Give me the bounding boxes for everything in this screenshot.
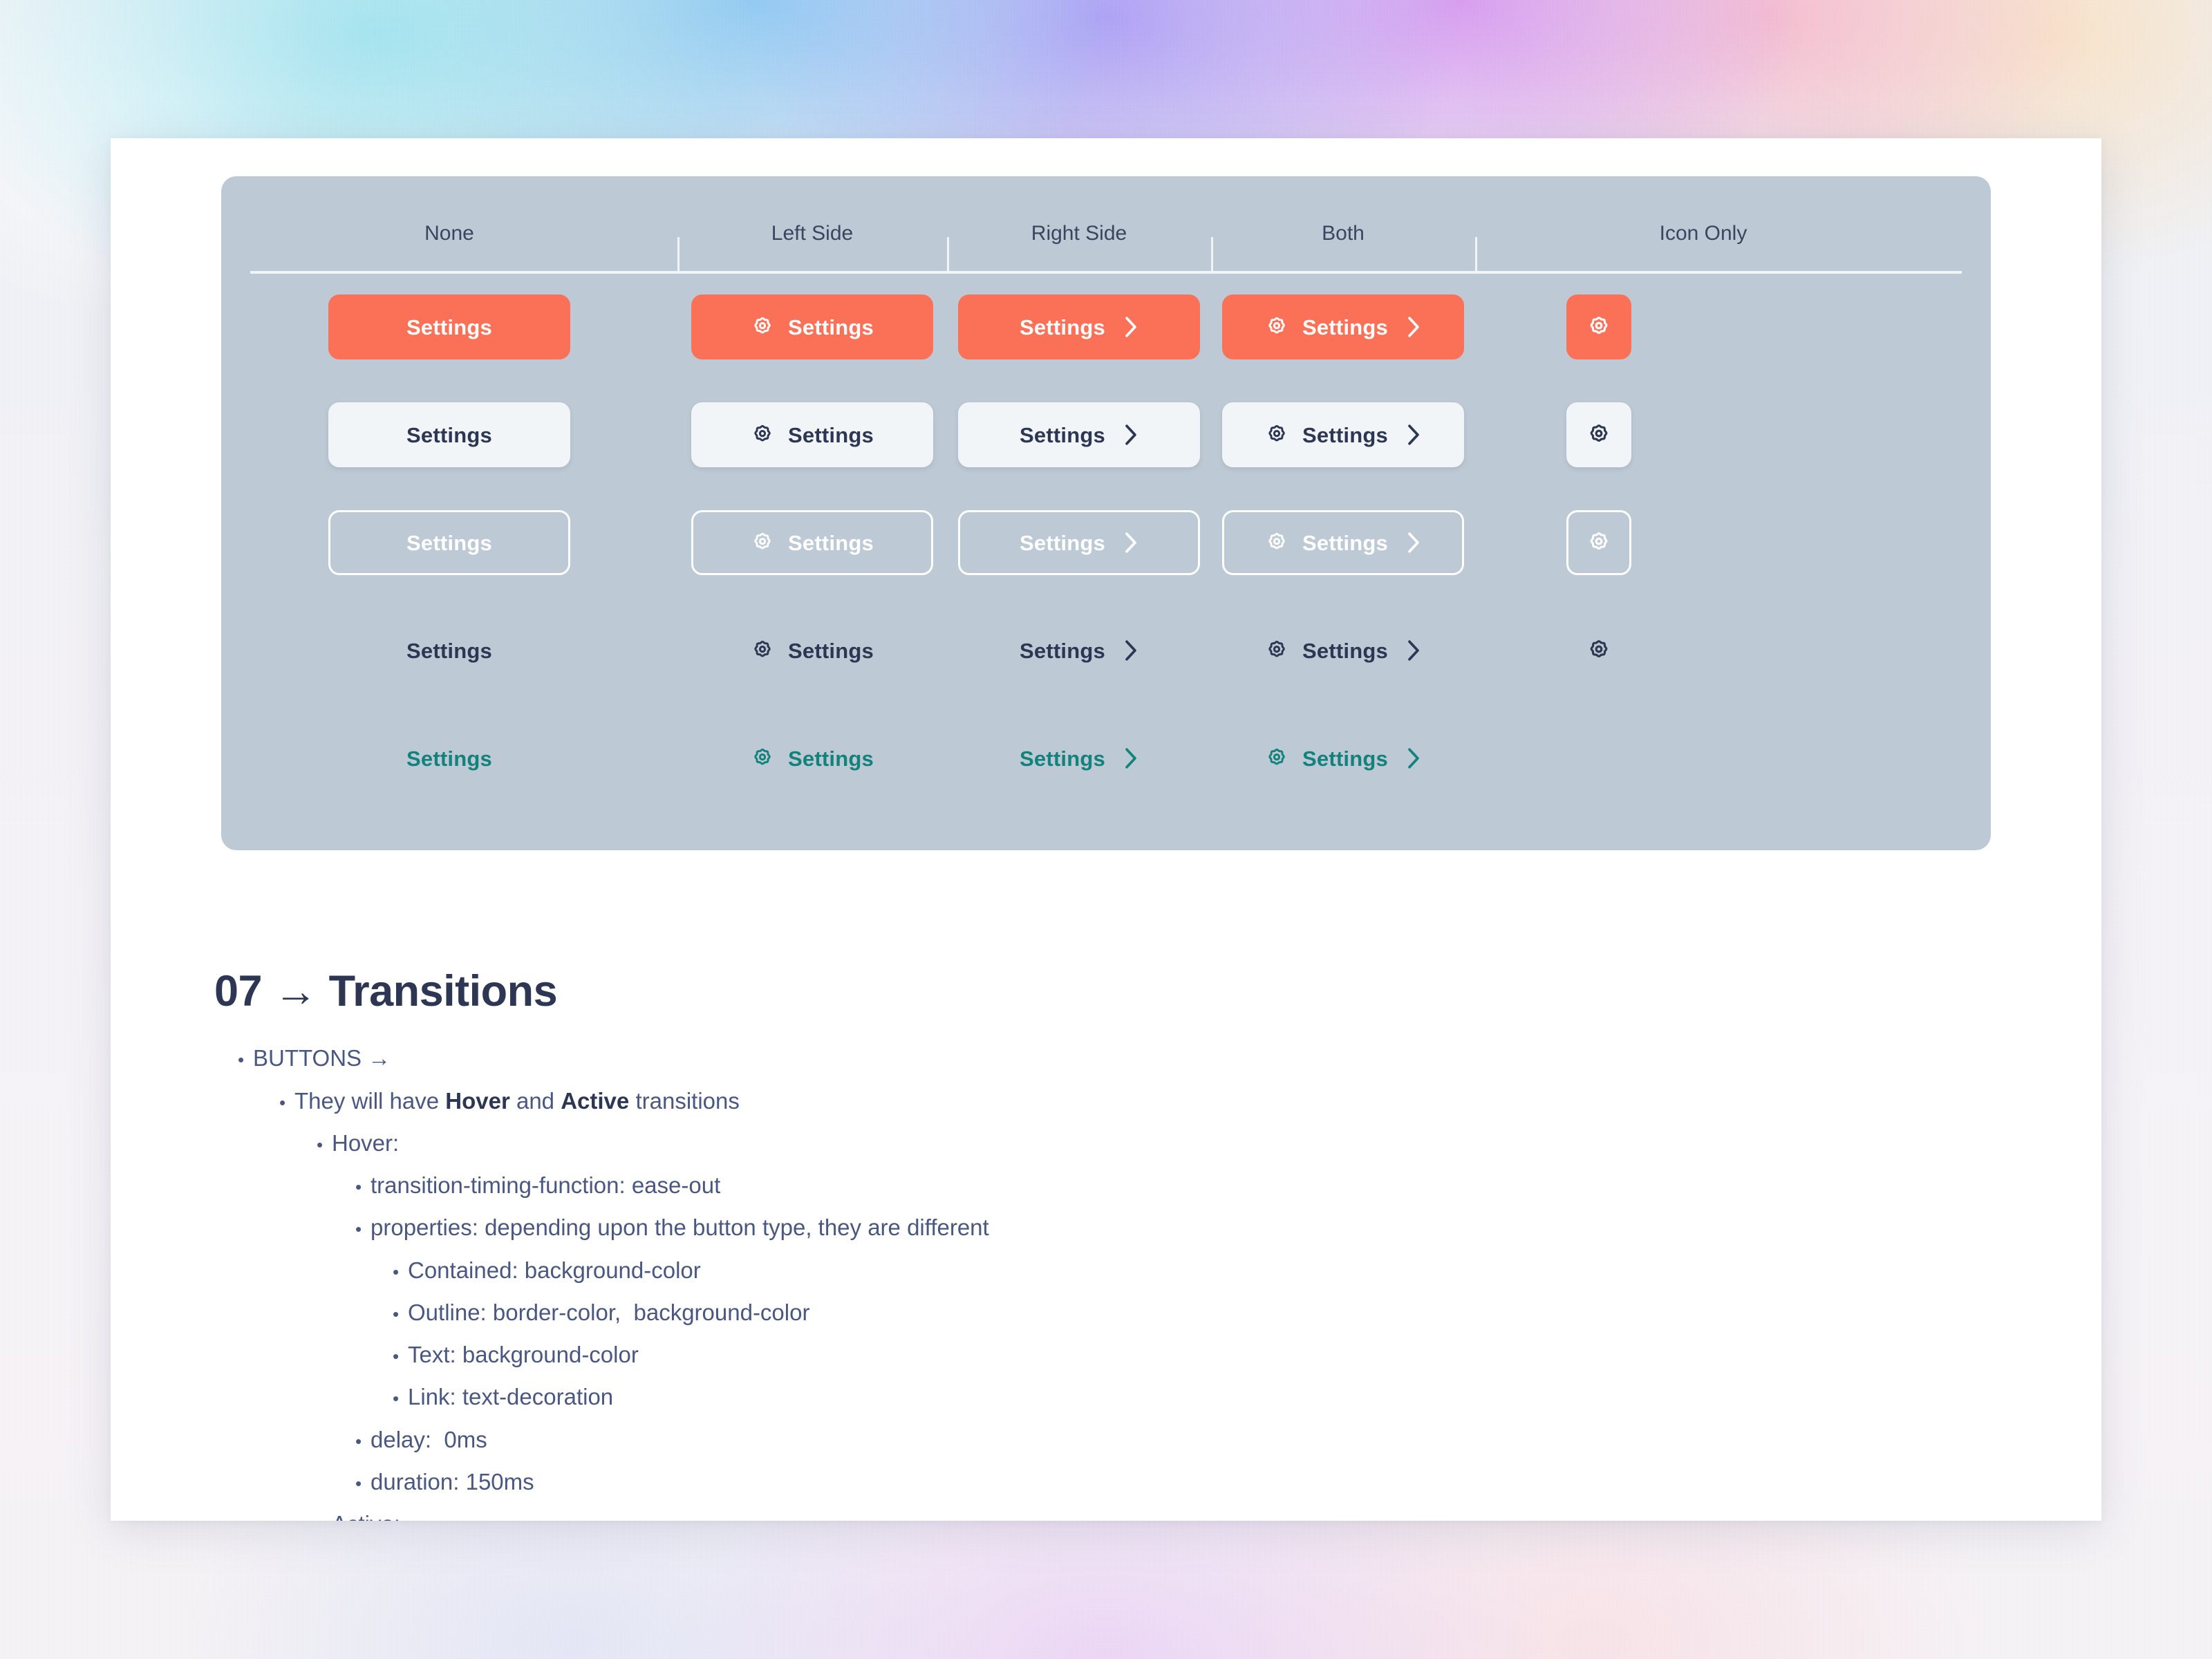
gear-icon	[751, 315, 774, 339]
button-label: Settings	[788, 532, 874, 554]
column-header-icon-only: Icon Only	[1475, 223, 1931, 273]
button-link-left[interactable]: Settings	[691, 726, 933, 791]
column-header-none: None	[221, 223, 677, 273]
column-header-left-side: Left Side	[677, 223, 947, 273]
chevron-right-icon	[1123, 747, 1138, 770]
column-divider	[1475, 237, 1477, 273]
grid-cell-text-both: Settings	[1211, 618, 1475, 683]
button-label: Settings	[1302, 640, 1388, 662]
bullet-dot-icon: •	[355, 1178, 371, 1196]
grid-cell-outline-left: Settings	[677, 510, 947, 575]
bullet-item: •duration: 150ms	[355, 1468, 2046, 1496]
column-header-label: None	[424, 222, 474, 245]
gear-icon	[1265, 531, 1288, 554]
button-text-none[interactable]: Settings	[328, 618, 570, 683]
gear-icon	[1265, 315, 1288, 339]
bullet-text: Outline: border-color, background-color	[408, 1299, 2046, 1327]
grid-cell-outline-icononly	[1475, 510, 1931, 575]
grid-cell-link-none: Settings	[221, 726, 677, 791]
button-label: Settings	[788, 640, 874, 662]
button-outline-right[interactable]: Settings	[958, 510, 1200, 575]
grid-cell-outline-none: Settings	[221, 510, 677, 575]
bullet-text: Link: text-decoration	[408, 1383, 2046, 1411]
button-contained-none[interactable]: Settings	[328, 294, 570, 359]
button-grid: Settings SettingsSettings Settings Setti…	[221, 273, 1991, 812]
bullet-dot-icon: •	[355, 1474, 371, 1492]
button-white-both[interactable]: Settings	[1222, 402, 1464, 467]
button-label: Settings	[1020, 532, 1105, 554]
button-white-right[interactable]: Settings	[958, 402, 1200, 467]
button-row-text: Settings SettingsSettings Settings	[221, 597, 1991, 704]
button-label: Settings	[1020, 424, 1105, 446]
column-divider	[947, 237, 949, 273]
gear-icon	[751, 639, 774, 662]
button-link-both[interactable]: Settings	[1222, 726, 1464, 791]
bullet-text: delay: 0ms	[371, 1426, 2046, 1454]
grid-cell-white-left: Settings	[677, 402, 947, 467]
chevron-right-icon	[1123, 315, 1138, 339]
gear-icon	[1586, 530, 1611, 555]
button-contained-icononly[interactable]	[1566, 294, 1631, 359]
grid-cell-contained-right: Settings	[947, 294, 1211, 359]
grid-cell-link-left: Settings	[677, 726, 947, 791]
bullet-dot-icon: •	[393, 1347, 408, 1365]
bullet-item: •properties: depending upon the button t…	[355, 1214, 2046, 1241]
bullet-dot-icon: •	[393, 1305, 408, 1323]
grid-cell-outline-right: Settings	[947, 510, 1211, 575]
button-label: Settings	[406, 317, 492, 338]
button-label: Settings	[788, 748, 874, 769]
bullet-text: duration: 150ms	[371, 1468, 2046, 1496]
gear-icon	[1265, 747, 1288, 770]
column-header-label: Left Side	[771, 222, 853, 245]
column-header-label: Right Side	[1031, 222, 1127, 245]
grid-cell-white-both: Settings	[1211, 402, 1475, 467]
specimen-column-headers: None Left Side Right Side Both Icon Only	[221, 176, 1991, 273]
chevron-right-icon	[1406, 531, 1421, 554]
bullet-dot-icon: •	[355, 1220, 371, 1238]
grid-cell-text-left: Settings	[677, 618, 947, 683]
chevron-right-icon	[1406, 747, 1421, 770]
bullet-text: Hover:	[332, 1130, 2046, 1157]
grid-cell-link-right: Settings	[947, 726, 1211, 791]
chevron-right-icon	[1406, 639, 1421, 662]
grid-cell-white-none: Settings	[221, 402, 677, 467]
button-label: Settings	[788, 424, 874, 446]
button-contained-both[interactable]: Settings	[1222, 294, 1464, 359]
button-white-icononly[interactable]	[1566, 402, 1631, 467]
bullet-item: •BUTTONS →	[238, 1044, 2046, 1072]
button-white-left[interactable]: Settings	[691, 402, 933, 467]
grid-cell-text-icononly	[1475, 618, 1931, 683]
grid-cell-outline-both: Settings	[1211, 510, 1475, 575]
button-label: Settings	[788, 317, 874, 338]
button-contained-right[interactable]: Settings	[958, 294, 1200, 359]
page-title: 07 → Transitions	[214, 968, 2046, 1015]
gear-icon	[1265, 423, 1288, 447]
button-row-white: Settings SettingsSettings Settings	[221, 381, 1991, 489]
button-label: Settings	[406, 532, 492, 554]
column-header-both: Both	[1211, 223, 1475, 273]
button-row-link: Settings SettingsSettings Settings	[221, 704, 1991, 812]
button-outline-left[interactable]: Settings	[691, 510, 933, 575]
button-label: Settings	[406, 640, 492, 662]
button-label: Settings	[1020, 748, 1105, 769]
bullet-dot-icon: •	[355, 1432, 371, 1450]
bullet-list: •BUTTONS →•They will have Hover and Acti…	[214, 1044, 2046, 1521]
grid-cell-contained-icononly	[1475, 294, 1931, 359]
bullet-dot-icon: •	[317, 1136, 332, 1154]
gear-icon	[1586, 422, 1611, 447]
button-link-right[interactable]: Settings	[958, 726, 1200, 791]
button-text-both[interactable]: Settings	[1222, 618, 1464, 683]
column-header-right-side: Right Side	[947, 223, 1211, 273]
button-label: Settings	[406, 748, 492, 769]
bullet-text: They will have Hover and Active transiti…	[294, 1087, 2046, 1115]
gear-icon	[751, 531, 774, 554]
bullet-text: properties: depending upon the button ty…	[371, 1214, 2046, 1241]
grid-cell-text-right: Settings	[947, 618, 1211, 683]
button-label: Settings	[1020, 640, 1105, 662]
gear-icon	[1265, 639, 1288, 662]
grid-cell-contained-left: Settings	[677, 294, 947, 359]
button-label: Settings	[406, 424, 492, 446]
button-outline-both[interactable]: Settings	[1222, 510, 1464, 575]
button-outline-icononly[interactable]	[1566, 510, 1631, 575]
button-label: Settings	[1302, 317, 1388, 338]
gear-icon	[751, 747, 774, 770]
bullet-item: •Active:	[317, 1510, 2046, 1521]
prose-section: 07 → Transitions •BUTTONS →•They will ha…	[214, 968, 2046, 1521]
grid-cell-text-none: Settings	[221, 618, 677, 683]
grid-cell-link-both: Settings	[1211, 726, 1475, 791]
column-header-label: Both	[1322, 222, 1365, 245]
bullet-text: Contained: background-color	[408, 1257, 2046, 1284]
grid-cell-contained-none: Settings	[221, 294, 677, 359]
chevron-right-icon	[1406, 423, 1421, 447]
bullet-item: •transition-timing-function: ease-out	[355, 1172, 2046, 1199]
grid-cell-white-right: Settings	[947, 402, 1211, 467]
button-specimen-panel: None Left Side Right Side Both Icon Only…	[221, 176, 1991, 850]
chevron-right-icon	[1123, 531, 1138, 554]
bullet-text: BUTTONS →	[253, 1044, 2046, 1072]
chevron-right-icon	[1123, 639, 1138, 662]
button-label: Settings	[1020, 317, 1105, 338]
bullet-text: Active:	[332, 1510, 2046, 1521]
bullet-dot-icon: •	[238, 1051, 253, 1069]
bullet-item: •Text: background-color	[393, 1341, 2046, 1369]
button-contained-left[interactable]: Settings	[691, 294, 933, 359]
column-divider	[677, 237, 679, 273]
column-header-label: Icon Only	[1660, 222, 1747, 245]
chevron-right-icon	[1406, 315, 1421, 339]
bullet-item: •Contained: background-color	[393, 1257, 2046, 1284]
bullet-item: •delay: 0ms	[355, 1426, 2046, 1454]
bullet-item: •Outline: border-color, background-color	[393, 1299, 2046, 1327]
gear-icon	[1586, 315, 1611, 339]
button-label: Settings	[1302, 424, 1388, 446]
gear-icon	[1586, 638, 1611, 663]
button-label: Settings	[1302, 748, 1388, 769]
gear-icon	[751, 423, 774, 447]
button-label: Settings	[1302, 532, 1388, 554]
bullet-dot-icon: •	[393, 1389, 408, 1407]
button-text-icononly[interactable]	[1566, 618, 1631, 683]
bullet-dot-icon: •	[279, 1094, 294, 1112]
grid-cell-contained-both: Settings	[1211, 294, 1475, 359]
button-white-none[interactable]: Settings	[328, 402, 570, 467]
bullet-item: •Link: text-decoration	[393, 1383, 2046, 1411]
bullet-dot-icon: •	[317, 1517, 332, 1521]
button-link-none[interactable]: Settings	[328, 726, 570, 791]
bullet-item: •Hover:	[317, 1130, 2046, 1157]
button-outline-none[interactable]: Settings	[328, 510, 570, 575]
button-text-right[interactable]: Settings	[958, 618, 1200, 683]
document-card: None Left Side Right Side Both Icon Only…	[111, 138, 2101, 1521]
bullet-text: Text: background-color	[408, 1341, 2046, 1369]
bullet-item: •They will have Hover and Active transit…	[279, 1087, 2046, 1115]
button-row-outline: Settings SettingsSettings Settings	[221, 489, 1991, 597]
column-divider	[1211, 237, 1213, 273]
bullet-dot-icon: •	[393, 1263, 408, 1281]
button-row-contained: Settings SettingsSettings Settings	[221, 273, 1991, 381]
bullet-text: transition-timing-function: ease-out	[371, 1172, 2046, 1199]
button-text-left[interactable]: Settings	[691, 618, 933, 683]
grid-cell-white-icononly	[1475, 402, 1931, 467]
chevron-right-icon	[1123, 423, 1138, 447]
